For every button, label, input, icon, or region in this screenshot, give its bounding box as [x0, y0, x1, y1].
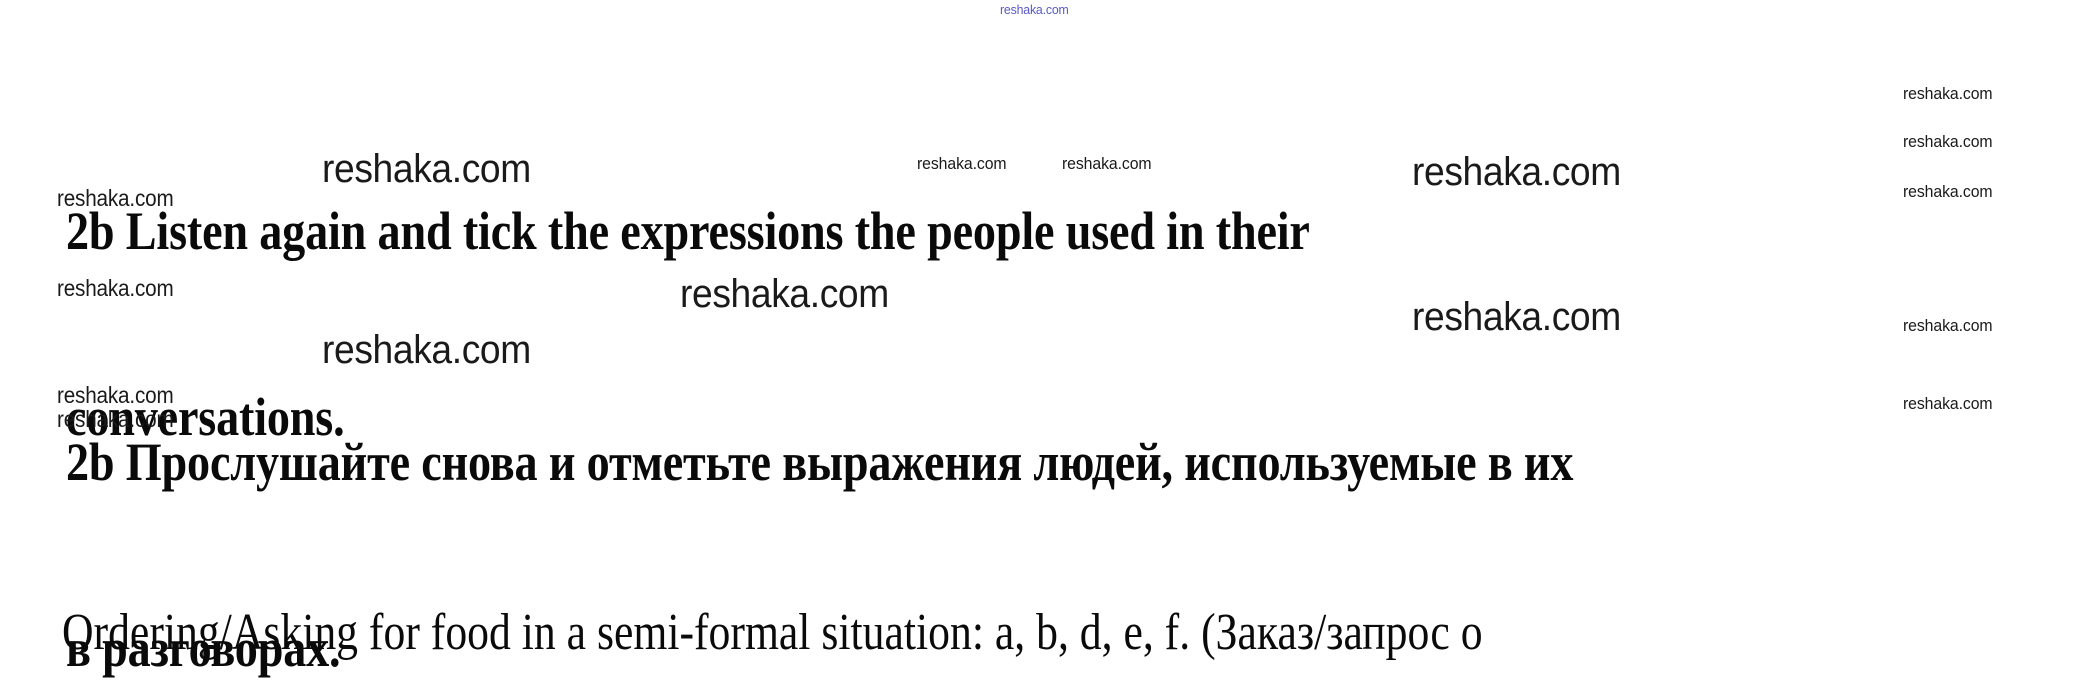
- watermark-reshaka: reshaka.com: [1000, 2, 1069, 17]
- watermark-reshaka: reshaka.com: [1412, 150, 1621, 195]
- watermark-reshaka: reshaka.com: [1903, 316, 1992, 336]
- watermark-reshaka: reshaka.com: [1062, 154, 1151, 174]
- watermark-reshaka: reshaka.com: [57, 185, 174, 212]
- answer-line-1: Ordering/Asking for food in a semi-forma…: [62, 602, 1483, 664]
- watermark-reshaka: reshaka.com: [1412, 295, 1621, 340]
- document-page: 2b Listen again and tick the expressions…: [0, 0, 2100, 690]
- watermark-reshaka: reshaka.com: [917, 154, 1006, 174]
- watermark-reshaka: reshaka.com: [1903, 84, 1992, 104]
- watermark-reshaka: reshaka.com: [322, 328, 531, 373]
- answer-paragraph: Ordering/Asking for food in a semi-forma…: [62, 478, 1483, 690]
- watermark-reshaka: reshaka.com: [680, 272, 889, 317]
- watermark-reshaka: reshaka.com: [57, 275, 174, 302]
- watermark-reshaka: reshaka.com: [57, 382, 174, 409]
- watermark-reshaka: reshaka.com: [1903, 182, 1992, 202]
- watermark-reshaka: reshaka.com: [322, 147, 531, 192]
- watermark-reshaka: reshaka.com: [57, 406, 174, 433]
- watermark-reshaka: reshaka.com: [1903, 394, 1992, 414]
- watermark-reshaka: reshaka.com: [1903, 132, 1992, 152]
- heading-english-line-1: 2b Listen again and tick the expressions…: [66, 200, 1310, 262]
